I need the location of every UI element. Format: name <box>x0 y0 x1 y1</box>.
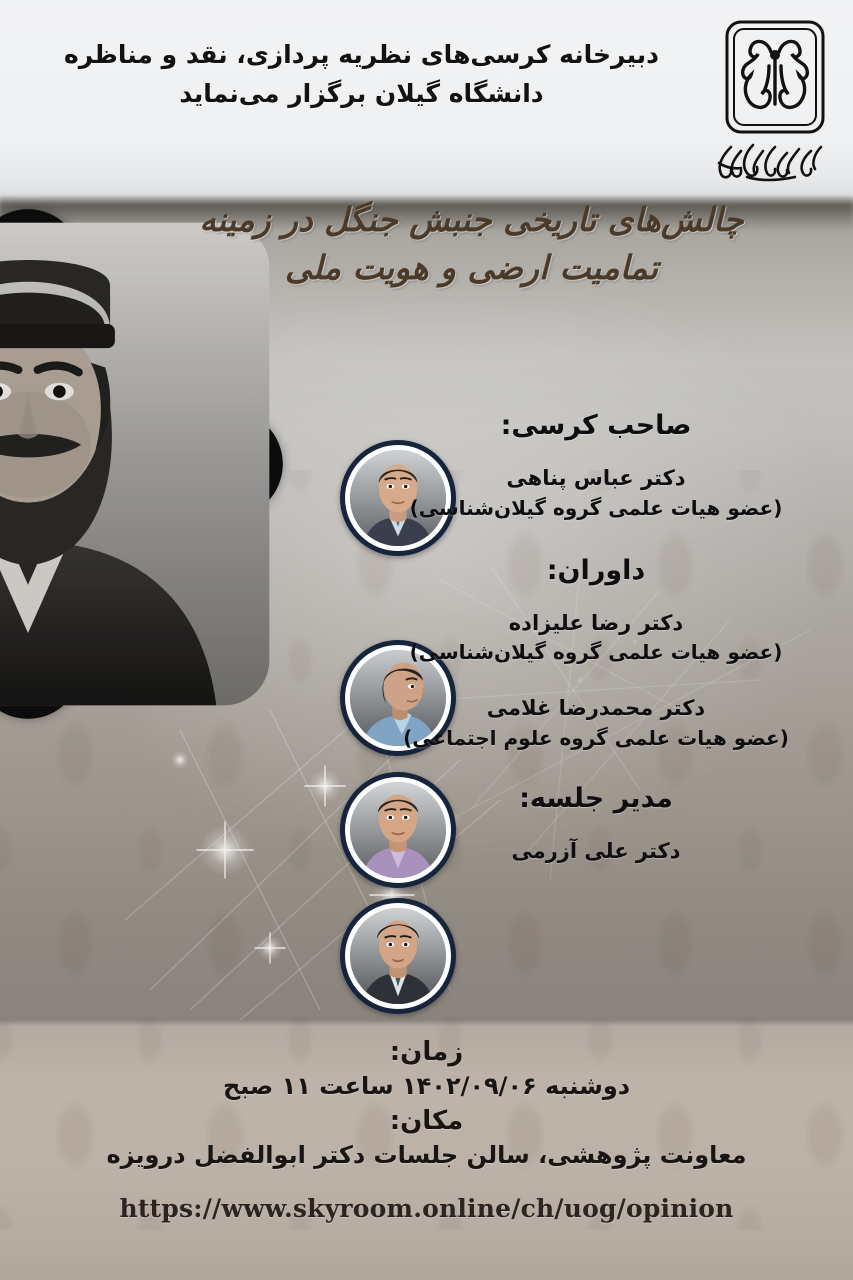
moderator-label: مدیر جلسه: <box>361 781 831 816</box>
judge-2-name: دکتر محمدرضا غلامی <box>361 693 831 723</box>
university-logo <box>715 18 835 183</box>
chair-label: صاحب کرسی: <box>361 408 831 443</box>
event-details: زمان: دوشنبه ۱۴۰۲/۰۹/۰۶ ساعت ۱۱ صبح مکان… <box>0 1035 853 1223</box>
university-of-gilan-logo-icon <box>723 18 827 136</box>
page-title: چالش‌های تاریخی جنبش جنگل در زمینه تمامی… <box>120 196 823 292</box>
header-announcement: دبیرخانه کرسی‌های نظریه پردازی، نقد و من… <box>30 36 693 114</box>
avatar-moderator <box>340 898 456 1014</box>
header-line-1: دبیرخانه کرسی‌های نظریه پردازی، نقد و من… <box>30 36 693 75</box>
logo-caption-calligraphy <box>711 133 829 187</box>
moderator-name: دکتر علی آزرمی <box>361 836 831 866</box>
judges-label: داوران: <box>361 553 831 588</box>
meeting-link[interactable]: https://www.skyroom.online/ch/uog/opinio… <box>0 1194 853 1223</box>
judge-1-name: دکتر رضا علیزاده <box>361 608 831 638</box>
title-line-2: تمامیت ارضی و هویت ملی <box>120 244 823 292</box>
judge-1-affiliation: (عضو هیات علمی گروه گیلان‌شناسی) <box>361 638 831 667</box>
chair-affiliation: (عضو هیات علمی گروه گیلان‌شناسی) <box>361 494 831 523</box>
participants-list: صاحب کرسی: دکتر عباس پناهی (عضو هیات علم… <box>361 408 831 866</box>
header-line-2: دانشگاه گیلان برگزار می‌نماید <box>30 75 693 114</box>
avatar-photo-ali-azarmi <box>350 908 446 1004</box>
historical-portrait-image <box>0 223 269 706</box>
title-line-1: چالش‌های تاریخی جنبش جنگل در زمینه <box>120 196 823 244</box>
avatar-ring <box>345 903 451 1009</box>
place-label: مکان: <box>0 1104 853 1139</box>
time-label: زمان: <box>0 1035 853 1070</box>
chair-name: دکتر عباس پناهی <box>361 463 831 493</box>
poster-header: دبیرخانه کرسی‌های نظریه پردازی، نقد و من… <box>0 0 853 196</box>
judge-2-affiliation: (عضو هیات علمی گروه علوم اجتماعی) <box>361 724 831 753</box>
event-poster: دبیرخانه کرسی‌های نظریه پردازی، نقد و من… <box>0 0 853 1280</box>
place-value: معاونت پژوهشی، سالن جلسات دکتر ابوالفضل … <box>0 1139 853 1173</box>
time-value: دوشنبه ۱۴۰۲/۰۹/۰۶ ساعت ۱۱ صبح <box>0 1070 853 1104</box>
